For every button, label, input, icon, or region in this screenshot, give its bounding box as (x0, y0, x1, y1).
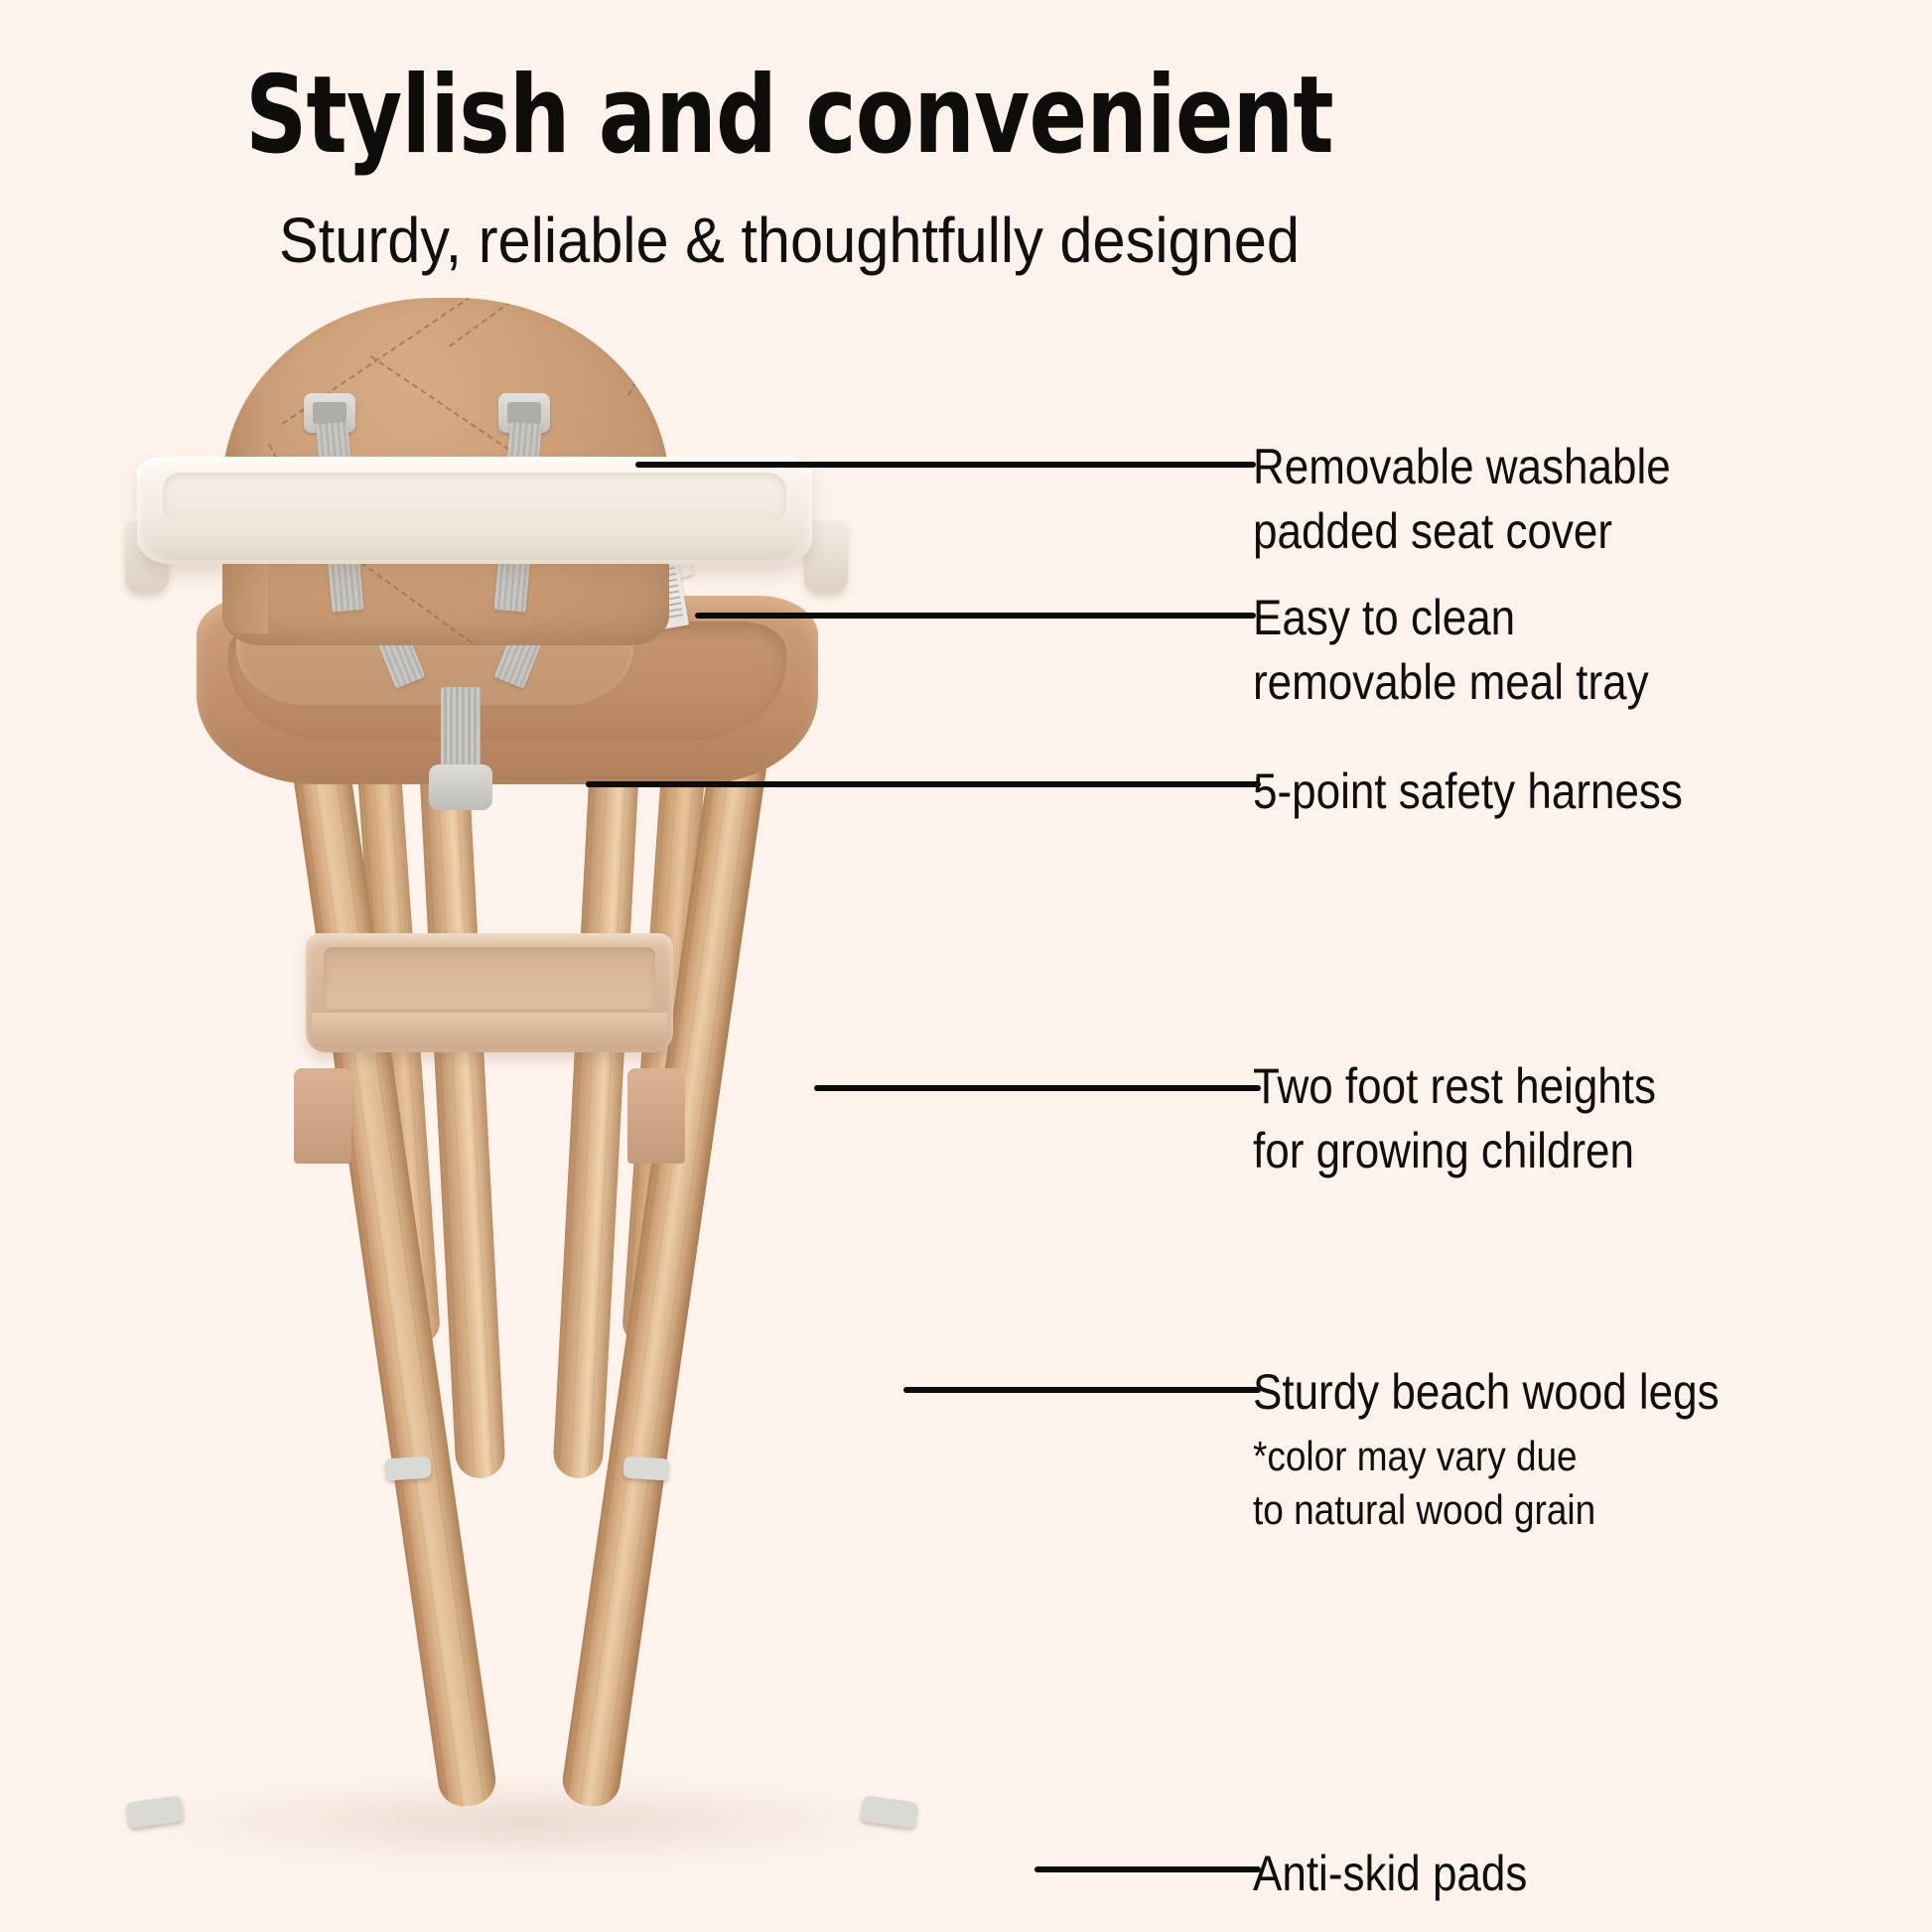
anti-skid-pad-rear-right (622, 1455, 669, 1480)
leader-line-meal-tray (695, 613, 1256, 619)
callout-label-seat-cover: Removable washable padded seat cover (1253, 435, 1812, 564)
page-subtitle: Sturdy, reliable & thoughtfully designed (56, 204, 1524, 277)
footrest-bracket-right (627, 1068, 685, 1164)
callout-label-wood-legs: Sturdy beach wood legs (1253, 1360, 1847, 1425)
leader-line-wood-legs (903, 1387, 1261, 1393)
callout-label-wood-note: *color may vary due to natural wood grai… (1253, 1430, 1847, 1537)
floor-shadow (149, 1777, 903, 1866)
harness-buckle-center (429, 764, 492, 810)
leader-line-anti-skid (1035, 1866, 1261, 1872)
footrest-tray (306, 933, 673, 1052)
callout-label-harness: 5-point safety harness (1253, 759, 1830, 824)
product-image-high-chair: ADVERTENCIA NUNCA DEJE AL NIÑO DESATENDI… (119, 298, 913, 1906)
page-title: Stylish and convenient (158, 54, 1421, 178)
leader-line-seat-cover (635, 462, 1256, 468)
callout-label-anti-skid: Anti-skid pads (1253, 1842, 1777, 1906)
callout-label-meal-tray: Easy to clean removable meal tray (1253, 586, 1812, 715)
removable-meal-tray[interactable] (137, 457, 812, 564)
leader-line-harness (586, 781, 1261, 787)
infographic-canvas: Stylish and convenient Sturdy, reliable … (0, 0, 1932, 1932)
callout-label-foot-rest: Two foot rest heights for growing childr… (1253, 1054, 1830, 1183)
leader-line-foot-rest (814, 1085, 1261, 1091)
anti-skid-pad-rear-left (384, 1455, 431, 1480)
footrest-bracket-left (294, 1068, 351, 1164)
